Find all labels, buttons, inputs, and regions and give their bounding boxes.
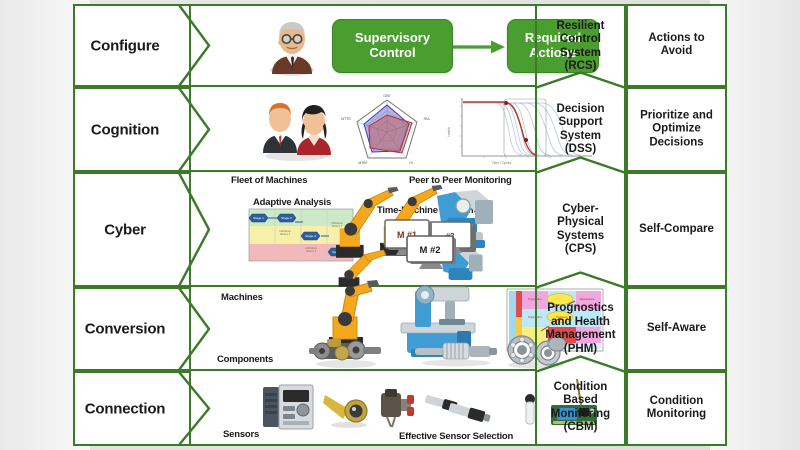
attribute-cell-prioritize-optimize[interactable]: Prioritize and Optimize Decisions	[626, 87, 727, 172]
ballscrew-icon	[413, 337, 499, 367]
svg-text:MTTR: MTTR	[341, 117, 351, 121]
svg-text:Stage 2: Stage 2	[281, 216, 292, 220]
level-label: Cyber	[75, 221, 175, 238]
radar-chart-icon: OEERUL HIMTBFMTTR	[339, 92, 435, 168]
two-people-icon	[259, 95, 335, 161]
process-box-supervisory-control[interactable]: SupervisoryControl	[332, 19, 453, 73]
svg-text:Health: Health	[447, 127, 451, 136]
monitor-stack-icon: #3 M #1 M #2	[377, 218, 485, 270]
svg-text:RUL: RUL	[424, 117, 431, 121]
attribute-label: Prioritize and Optimize Decisions	[632, 109, 721, 150]
caption-effective-sensor-selection: Effective Sensor Selection	[399, 431, 513, 442]
attribute-label: Self-Aware	[632, 322, 721, 336]
caption-peer-to-peer-monitoring: Peer to Peer Monitoring	[409, 175, 512, 186]
technology-cell-cbm[interactable]: Condition Based Monitoring (CBM)	[535, 371, 626, 446]
level-cell-cognition[interactable]: Cognition	[73, 87, 191, 172]
row-cyber: Cyber Fleet of Machines Adaptive Analysi…	[73, 172, 727, 287]
level-label: Connection	[75, 400, 175, 417]
content-cell-configure: SupervisoryControl RequiredActions	[191, 4, 535, 87]
caption-adaptive-analysis: Adaptive Analysis	[253, 197, 331, 208]
svg-text:History 1: History 1	[280, 232, 291, 236]
content-cell-connection: Sensors Effective Sensor Selection	[191, 371, 535, 446]
svg-text:MTBF: MTBF	[358, 161, 367, 165]
svg-text:M #2: M #2	[419, 245, 440, 256]
technology-label: Decision Support System (DSS)	[540, 102, 621, 156]
svg-text:History 2: History 2	[306, 249, 317, 253]
manager-person-icon	[266, 20, 318, 76]
row-cognition: Cognition	[73, 87, 727, 172]
connector-icon	[377, 387, 421, 429]
caption-components: Components	[217, 354, 273, 365]
level-cell-conversion[interactable]: Conversion	[73, 287, 191, 371]
laser-sensor-icon	[323, 389, 373, 429]
technology-cell-phm[interactable]: Prognostics and Health Management (PHM)	[535, 287, 626, 371]
row-conversion: Conversion Machines Components	[73, 287, 727, 371]
attribute-label: Self-Compare	[632, 223, 721, 237]
technology-label: Cyber- Physical Systems (CPS)	[540, 202, 621, 256]
technology-cell-dss[interactable]: Decision Support System (DSS)	[535, 87, 626, 172]
attribute-cell-self-aware[interactable]: Self-Aware	[626, 287, 727, 371]
gearbox-icon	[307, 333, 385, 369]
attribute-cell-self-compare[interactable]: Self-Compare	[626, 172, 727, 287]
svg-text:HI: HI	[409, 161, 412, 165]
attribute-cell-condition-monitoring[interactable]: Condition Monitoring	[626, 371, 727, 446]
technology-label: Resilient Control System (RCS)	[540, 19, 621, 73]
attribute-label: Condition Monitoring	[632, 395, 721, 423]
svg-text:Time / Cycles: Time / Cycles	[492, 161, 512, 165]
level-cell-cyber[interactable]: Cyber	[73, 172, 191, 287]
svg-text:Stage 1: Stage 1	[253, 216, 264, 220]
technology-cell-cps[interactable]: Cyber- Physical Systems (CPS)	[535, 172, 626, 287]
svg-text:Stage 3: Stage 3	[305, 234, 316, 238]
caption-fleet-of-machines: Fleet of Machines	[231, 175, 307, 186]
attribute-label: Actions to Avoid	[632, 32, 721, 60]
process-box-label: SupervisoryControl	[355, 31, 430, 61]
attribute-cell-actions-to-avoid[interactable]: Actions to Avoid	[626, 4, 727, 87]
technology-label: Prognostics and Health Management (PHM)	[540, 302, 621, 356]
five-c-architecture-diagram: Configure	[73, 4, 727, 446]
row-configure: Configure	[73, 4, 727, 87]
arrow-right-icon	[453, 39, 505, 55]
svg-text:OEE: OEE	[383, 94, 391, 98]
level-label: Cognition	[75, 121, 175, 138]
content-cell-cyber: Fleet of Machines Adaptive Analysis Peer…	[191, 172, 535, 287]
caption-machines: Machines	[221, 292, 263, 303]
technology-cell-rcs[interactable]: Resilient Control System (RCS)	[535, 4, 626, 87]
content-cell-conversion: Machines Components	[191, 287, 535, 371]
level-label: Configure	[75, 37, 175, 54]
level-label: Conversion	[75, 321, 175, 338]
level-cell-connection[interactable]: Connection	[73, 371, 191, 446]
technology-label: Condition Based Monitoring (CBM)	[540, 380, 621, 434]
proximity-sensor-icon	[423, 391, 513, 429]
content-cell-cognition: OEERUL HIMTBFMTTR	[191, 87, 535, 172]
row-connection: Connection Sensors Effective Sensor Sele…	[73, 371, 727, 446]
caption-sensors: Sensors	[223, 429, 259, 440]
level-cell-configure[interactable]: Configure	[73, 4, 191, 87]
controller-module-icon	[263, 385, 315, 429]
